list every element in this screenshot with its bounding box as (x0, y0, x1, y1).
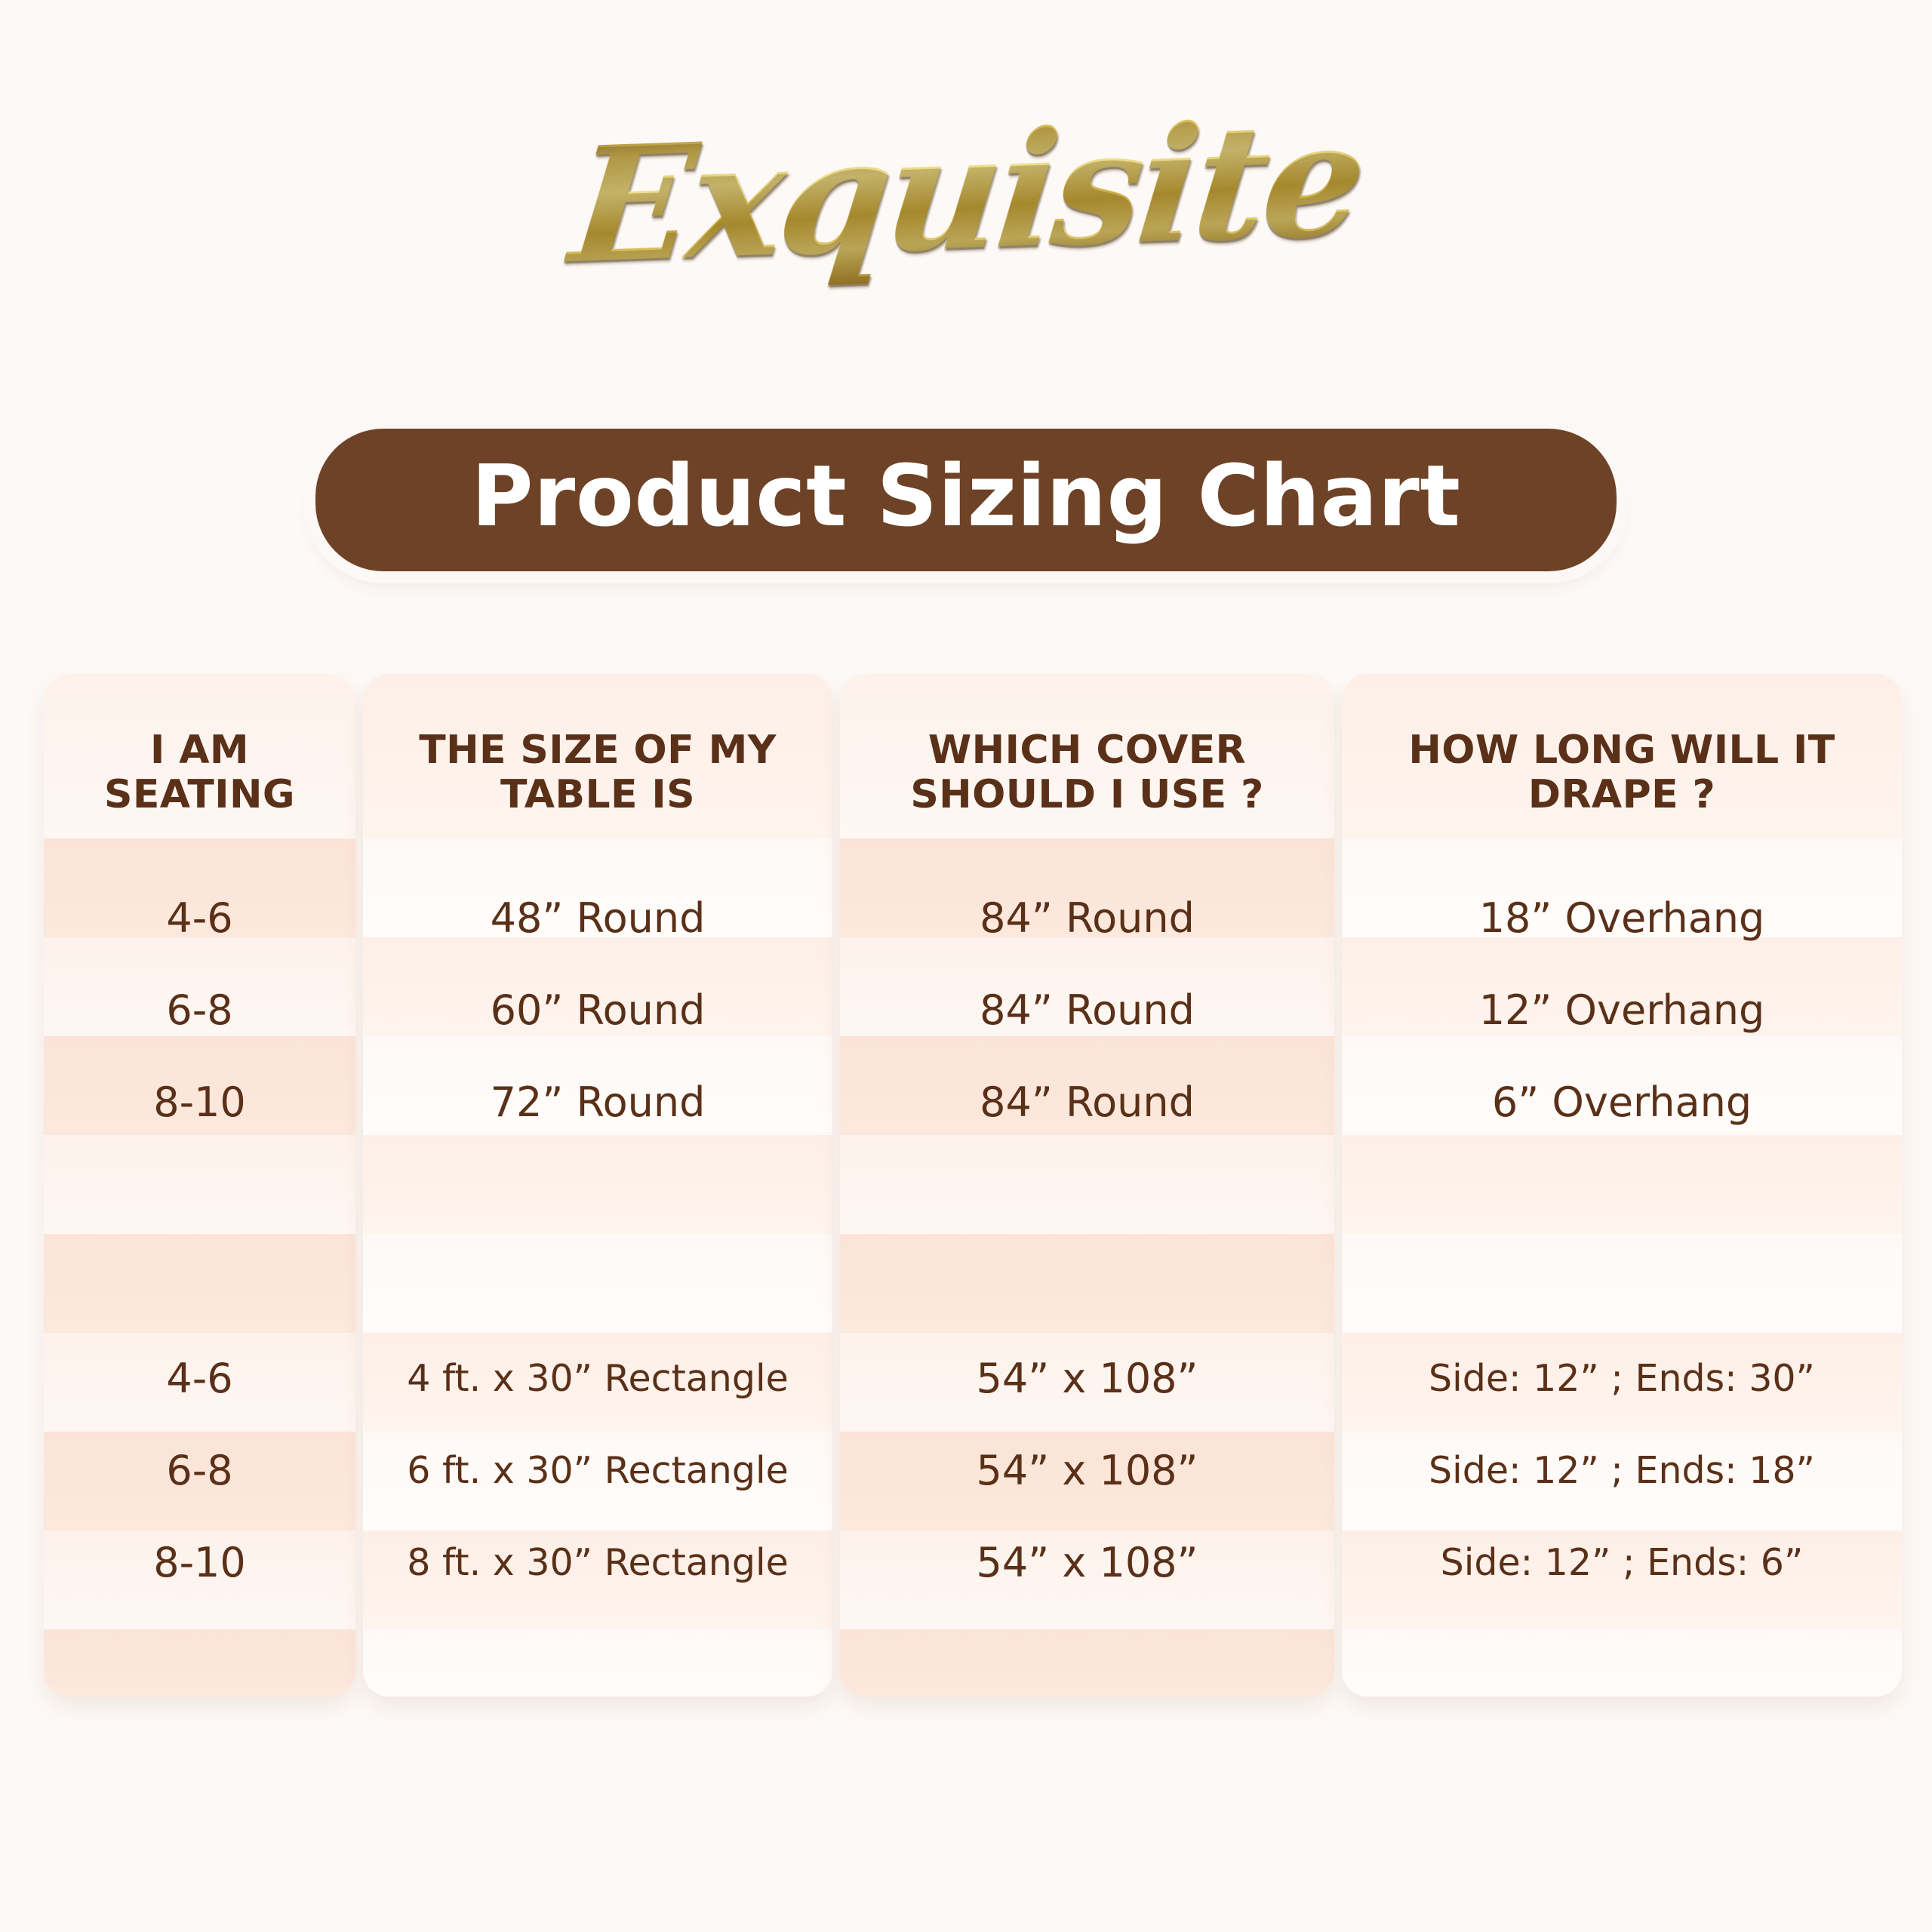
table-row: Side: 12” ; Ends: 6” (1342, 1517, 1902, 1609)
table-row-spacer (44, 1609, 355, 1697)
table-row-spacer (44, 1149, 355, 1241)
table-row: 4-6 (44, 872, 355, 964)
column-header-drape: HOW LONG WILL IT DRAPE ? (1342, 674, 1902, 872)
column-cells: HOW LONG WILL IT DRAPE ? 18” Overhang 12… (1342, 674, 1902, 1697)
column-cells: THE SIZE OF MY TABLE IS 48” Round 60” Ro… (363, 674, 832, 1697)
table-row: Side: 12” ; Ends: 30” (1342, 1333, 1902, 1425)
column-cells: I AM SEATING 4-6 6-8 8-10 4-6 6-8 8-10 (44, 674, 355, 1697)
table-row: 8-10 (44, 1057, 355, 1149)
table-column-cover: WHICH COVER SHOULD I USE ? 84” Round 84”… (840, 674, 1334, 1697)
table-row-spacer (840, 1149, 1334, 1241)
sizing-table: I AM SEATING 4-6 6-8 8-10 4-6 6-8 8-10 (44, 674, 1894, 1697)
table-row: 48” Round (363, 872, 832, 964)
table-column-seating: I AM SEATING 4-6 6-8 8-10 4-6 6-8 8-10 (44, 674, 355, 1697)
table-row: 54” x 108” (840, 1333, 1334, 1425)
table-row: 54” x 108” (840, 1425, 1334, 1517)
table-row: Side: 12” ; Ends: 18” (1342, 1425, 1902, 1517)
table-row: 84” Round (840, 1057, 1334, 1149)
table-row: 8-10 (44, 1517, 355, 1609)
page-title: Product Sizing Chart (385, 450, 1547, 544)
table-row: 72” Round (363, 1057, 832, 1149)
table-row: 4 ft. x 30” Rectangle (363, 1333, 832, 1425)
column-cells: WHICH COVER SHOULD I USE ? 84” Round 84”… (840, 674, 1334, 1697)
table-row-spacer (363, 1149, 832, 1241)
column-header-table-size: THE SIZE OF MY TABLE IS (363, 674, 832, 872)
table-column-table-size: THE SIZE OF MY TABLE IS 48” Round 60” Ro… (363, 674, 832, 1697)
table-row: 54” x 108” (840, 1517, 1334, 1609)
column-header-seating: I AM SEATING (44, 674, 355, 872)
table-row-spacer (363, 1241, 832, 1333)
column-header-cover: WHICH COVER SHOULD I USE ? (840, 674, 1334, 872)
table-row-spacer (363, 1609, 832, 1697)
table-row-spacer (1342, 1241, 1902, 1333)
table-row: 6-8 (44, 1425, 355, 1517)
table-column-drape: HOW LONG WILL IT DRAPE ? 18” Overhang 12… (1342, 674, 1902, 1697)
table-row-spacer (1342, 1609, 1902, 1697)
table-row-spacer (1342, 1149, 1902, 1241)
table-row: 6” Overhang (1342, 1057, 1902, 1149)
table-row: 60” Round (363, 964, 832, 1057)
brand-wordmark: Exquisite (547, 99, 1384, 309)
table-row: 18” Overhang (1342, 872, 1902, 964)
table-row: 4-6 (44, 1333, 355, 1425)
brand-logo: Exquisite (0, 91, 1932, 317)
table-row: 6-8 (44, 964, 355, 1057)
page-title-pill: Product Sizing Chart (315, 429, 1617, 571)
page-title-container: Product Sizing Chart (0, 429, 1932, 571)
table-row: 12” Overhang (1342, 964, 1902, 1057)
table-row-spacer (840, 1241, 1334, 1333)
table-row: 84” Round (840, 964, 1334, 1057)
table-row: 84” Round (840, 872, 1334, 964)
table-row: 8 ft. x 30” Rectangle (363, 1517, 832, 1609)
table-row-spacer (44, 1241, 355, 1333)
table-row-spacer (840, 1609, 1334, 1697)
table-row: 6 ft. x 30” Rectangle (363, 1425, 832, 1517)
